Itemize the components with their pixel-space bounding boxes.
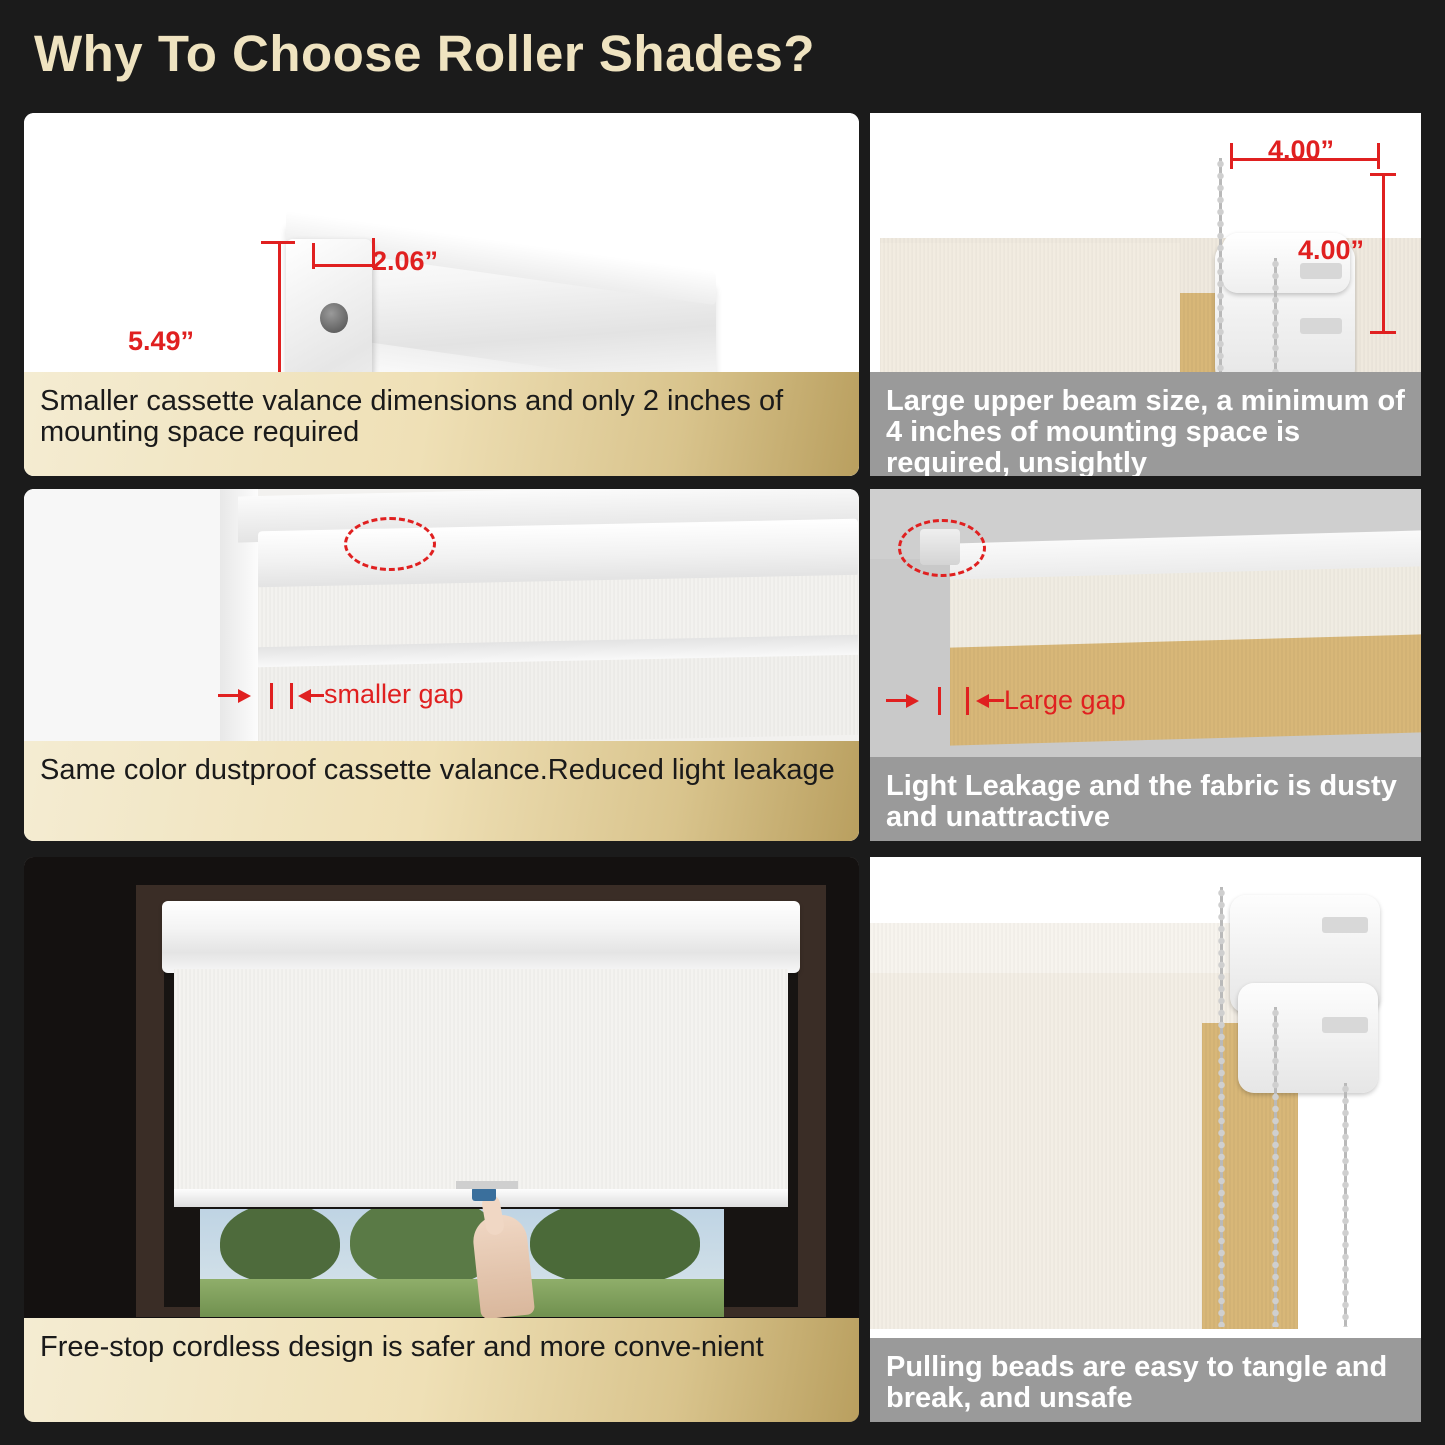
- window-glass: [200, 1209, 724, 1317]
- gap-mark-left: [270, 683, 273, 709]
- panel-large-beam: 4.00” 4.00” Large upper beam size, a min…: [870, 113, 1421, 476]
- pull-handle: [472, 1187, 496, 1201]
- large-gap-label: Large gap: [1004, 685, 1126, 716]
- bead-chain-left: [1215, 158, 1226, 398]
- panel-cordless-design: Free-stop cordless design is safer and m…: [24, 857, 859, 1422]
- panel-5-caption: Free-stop cordless design is safer and m…: [24, 1318, 859, 1422]
- end-cap-hole: [320, 303, 348, 333]
- panel-4-caption: Light Leakage and the fabric is dusty an…: [870, 757, 1421, 841]
- panel-dustproof-valance: smaller gap Same color dustproof cassett…: [24, 489, 859, 841]
- infographic-page: Why To Choose Roller Shades? 2.06” 5.49”…: [0, 0, 1445, 1445]
- width-dim-tick-left: [312, 243, 315, 269]
- page-title: Why To Choose Roller Shades?: [34, 24, 815, 83]
- gap-mark-right: [290, 683, 293, 709]
- rail-label-strip: [456, 1181, 518, 1189]
- beam-width-label: 4.00”: [1268, 135, 1334, 166]
- cassette-valance: [162, 901, 800, 973]
- panel-smaller-cassette: 2.06” 5.49” Smaller cassette valance dim…: [24, 113, 859, 476]
- bead-chain-1: [1216, 887, 1227, 1327]
- shade-fabric-top: [870, 923, 1290, 973]
- panel-light-leakage: Large gap Light Leakage and the fabric i…: [870, 489, 1421, 841]
- shade-fabric: [174, 969, 788, 1195]
- gap-mark-left: [938, 687, 941, 715]
- beam-depth-dim-line: [1382, 173, 1385, 333]
- bead-chain-2: [1270, 1007, 1281, 1327]
- bead-chain-3: [1340, 1083, 1351, 1327]
- beam-depth-label: 4.00”: [1298, 235, 1364, 266]
- gap-highlight-ellipse: [344, 517, 436, 571]
- gap-mark-right: [966, 687, 969, 715]
- width-dimension-label: 2.06”: [372, 246, 438, 277]
- panel-3-caption: Same color dustproof cassette valance.Re…: [24, 741, 859, 841]
- width-dim-line: [312, 264, 374, 267]
- smaller-gap-label: smaller gap: [324, 679, 464, 710]
- panel-pulling-beads: Pulling beads are easy to tangle and bre…: [870, 857, 1421, 1422]
- bracket-slot-bottom: [1322, 1017, 1368, 1033]
- window-wall: [24, 489, 244, 749]
- roller-bracket-slot-2: [1300, 318, 1342, 334]
- grass: [200, 1279, 724, 1317]
- height-dimension-label: 5.49”: [128, 326, 194, 357]
- panel-2-caption: Large upper beam size, a minimum of 4 in…: [870, 372, 1421, 476]
- gap-highlight-ellipse: [898, 519, 986, 577]
- roller-head-lower: [1238, 983, 1378, 1093]
- panel-1-caption: Smaller cassette valance dimensions and …: [24, 372, 859, 476]
- tree-left: [220, 1209, 340, 1283]
- panel-6-caption: Pulling beads are easy to tangle and bre…: [870, 1338, 1421, 1422]
- tree-right: [530, 1209, 700, 1285]
- bracket-slot-top: [1322, 917, 1368, 933]
